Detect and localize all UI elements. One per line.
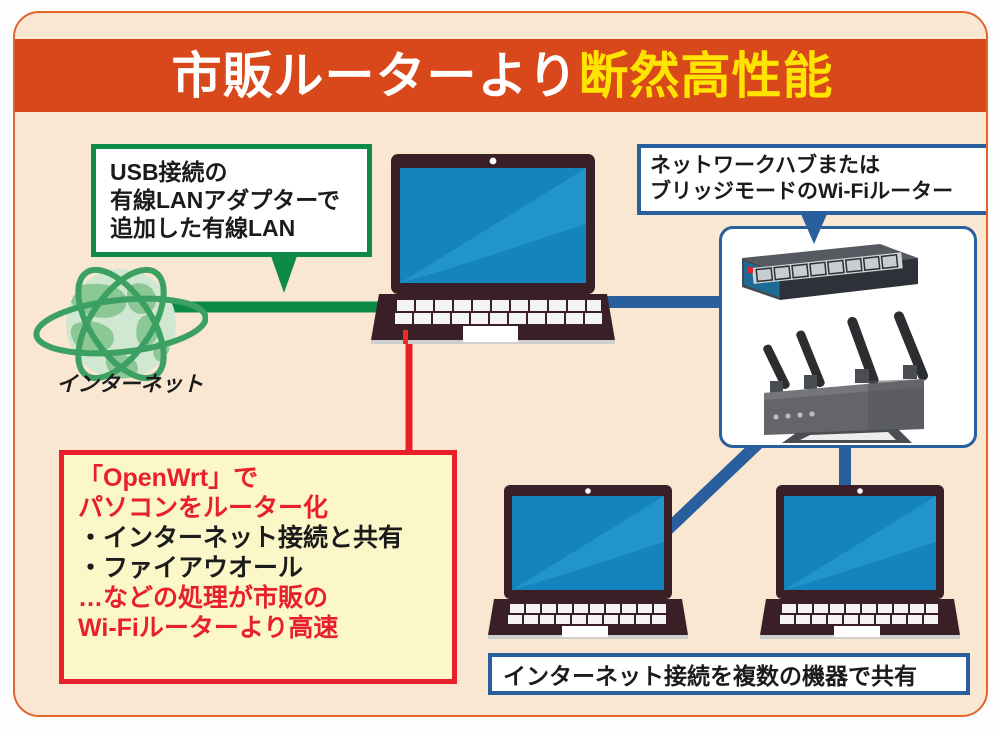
- hub-router-line2: ブリッジモードのWi-Fiルーター: [650, 179, 988, 205]
- link-laptop-to-openwrt: [409, 338, 455, 454]
- main-laptop[interactable]: [371, 154, 615, 346]
- hub-router-callout-tail: [801, 214, 827, 244]
- diagram-frame: 市販ルーターより断然高性能: [13, 11, 988, 717]
- client-laptop-right[interactable]: [760, 485, 960, 640]
- openwrt-line6: Wi-Fiルーターより高速: [78, 613, 452, 643]
- hub-router-callout: ネットワークハブまたは ブリッジモードのWi-Fiルーター: [637, 144, 988, 215]
- share-internet-callout: インターネット接続を複数の機器で共有: [488, 653, 970, 695]
- openwrt-line1: 「OpenWrt」で: [78, 463, 452, 493]
- network-device-panel: [719, 226, 977, 448]
- openwrt-line3: ・インターネット接続と共有: [78, 523, 452, 553]
- openwrt-line4: ・ファイアウオール: [78, 553, 452, 583]
- wifi-router[interactable]: [748, 307, 960, 445]
- openwrt-line5: …などの処理が市販の: [78, 583, 452, 613]
- wired-lan-callout: USB接続の 有線LANアダプターで 追加した有線LAN: [91, 144, 372, 257]
- share-internet-line1: インターネット接続を複数の機器で共有: [492, 657, 917, 691]
- network-switch[interactable]: [730, 240, 922, 312]
- wired-lan-line2: 有線LANアダプターで: [110, 186, 367, 214]
- openwrt-callout: 「OpenWrt」で パソコンをルーター化 ・インターネット接続と共有 ・ファイ…: [59, 450, 457, 684]
- openwrt-line2: パソコンをルーター化: [78, 493, 452, 523]
- wired-lan-line3: 追加した有線LAN: [110, 214, 367, 242]
- hub-router-line1: ネットワークハブまたは: [650, 153, 988, 179]
- wired-lan-line1: USB接続の: [110, 158, 367, 186]
- internet-label: インターネット: [35, 368, 225, 398]
- wired-lan-callout-tail: [271, 256, 297, 293]
- client-laptop-left[interactable]: [488, 485, 688, 640]
- diagram-canvas: 市販ルーターより断然高性能: [0, 0, 1000, 729]
- switch-power-led: [747, 267, 753, 273]
